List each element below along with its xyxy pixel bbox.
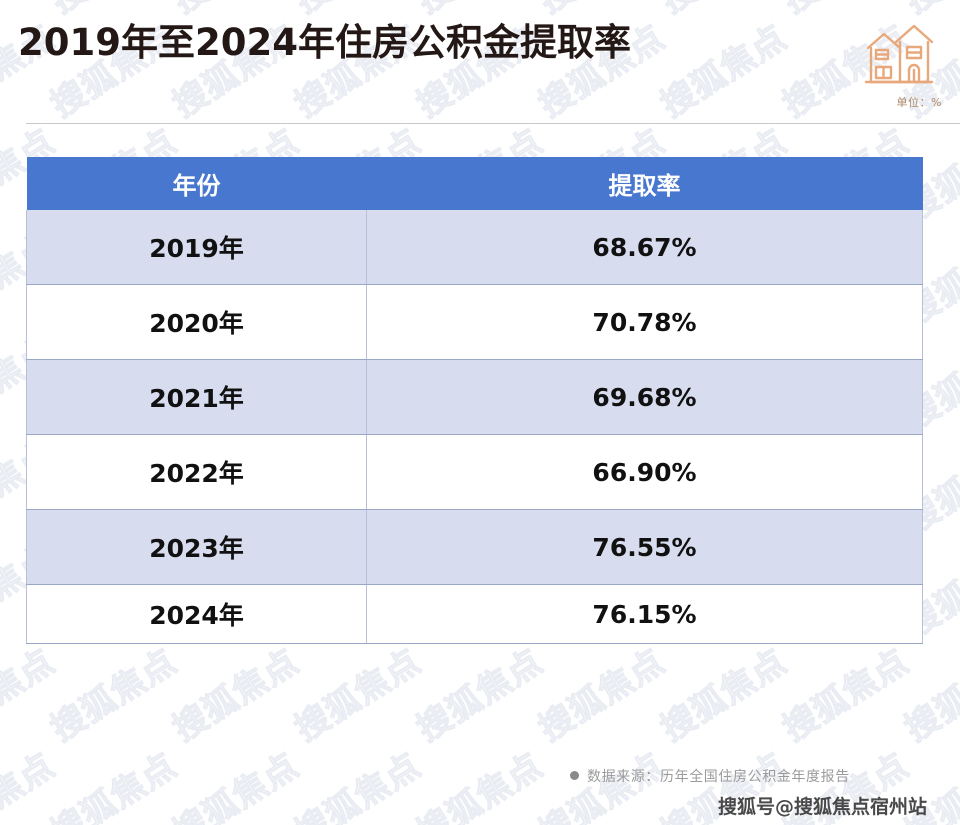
cell-rate: 69.68% bbox=[367, 360, 923, 435]
house-icon bbox=[860, 14, 938, 92]
cell-rate-text: 76.15% bbox=[367, 600, 922, 629]
page-title: 2019年至2024年住房公积金提取率 bbox=[18, 20, 631, 66]
data-source-note: 数据来源：历年全国住房公积金年度报告 bbox=[570, 766, 850, 786]
table-row: 2020年 70.78% bbox=[27, 285, 923, 360]
cell-year-text: 2022年 bbox=[27, 454, 366, 490]
cell-rate-text: 66.90% bbox=[367, 458, 922, 487]
cell-rate: 68.67% bbox=[367, 210, 923, 285]
cell-year-text: 2023年 bbox=[27, 529, 366, 565]
table-row: 2023年 76.55% bbox=[27, 510, 923, 585]
extraction-rate-table: 年份 提取率 2019年 68.67% 2020年 bbox=[26, 157, 923, 644]
cell-rate-text: 76.55% bbox=[367, 533, 922, 562]
table-row: 2024年 76.15% bbox=[27, 585, 923, 644]
cell-year: 2021年 bbox=[27, 360, 367, 435]
cell-rate: 76.55% bbox=[367, 510, 923, 585]
cell-year: 2023年 bbox=[27, 510, 367, 585]
cell-year-text: 2020年 bbox=[27, 304, 366, 340]
header-divider bbox=[26, 123, 960, 124]
bullet-dot-icon bbox=[570, 771, 579, 780]
cell-rate: 70.78% bbox=[367, 285, 923, 360]
cell-rate-text: 68.67% bbox=[367, 233, 922, 262]
cell-rate: 76.15% bbox=[367, 585, 923, 644]
unit-label: 单位：% bbox=[897, 94, 942, 110]
data-table-container: 年份 提取率 2019年 68.67% 2020年 bbox=[26, 157, 922, 644]
data-source-text: 数据来源：历年全国住房公积金年度报告 bbox=[587, 769, 850, 785]
cell-year: 2019年 bbox=[27, 210, 367, 285]
cell-year: 2020年 bbox=[27, 285, 367, 360]
table-header-row: 年份 提取率 bbox=[27, 157, 923, 210]
column-header-year: 年份 bbox=[27, 157, 367, 210]
page-root: 2019年至2024年住房公积金提取率 bbox=[0, 0, 960, 825]
table-row: 2022年 66.90% bbox=[27, 435, 923, 510]
table-row: 2019年 68.67% bbox=[27, 210, 923, 285]
cell-year-text: 2019年 bbox=[27, 229, 366, 265]
cell-year: 2022年 bbox=[27, 435, 367, 510]
cell-rate: 66.90% bbox=[367, 435, 923, 510]
site-watermark: 搜狐号@搜狐焦点宿州站 bbox=[718, 792, 927, 819]
cell-year: 2024年 bbox=[27, 585, 367, 644]
column-header-rate: 提取率 bbox=[367, 157, 923, 210]
cell-year-text: 2021年 bbox=[27, 379, 366, 415]
cell-rate-text: 69.68% bbox=[367, 383, 922, 412]
table-row: 2021年 69.68% bbox=[27, 360, 923, 435]
cell-rate-text: 70.78% bbox=[367, 308, 922, 337]
cell-year-text: 2024年 bbox=[27, 596, 366, 632]
table-body: 2019年 68.67% 2020年 70.78% 20 bbox=[27, 210, 923, 644]
table-header: 年份 提取率 bbox=[27, 157, 923, 210]
header: 2019年至2024年住房公积金提取率 bbox=[0, 0, 960, 124]
